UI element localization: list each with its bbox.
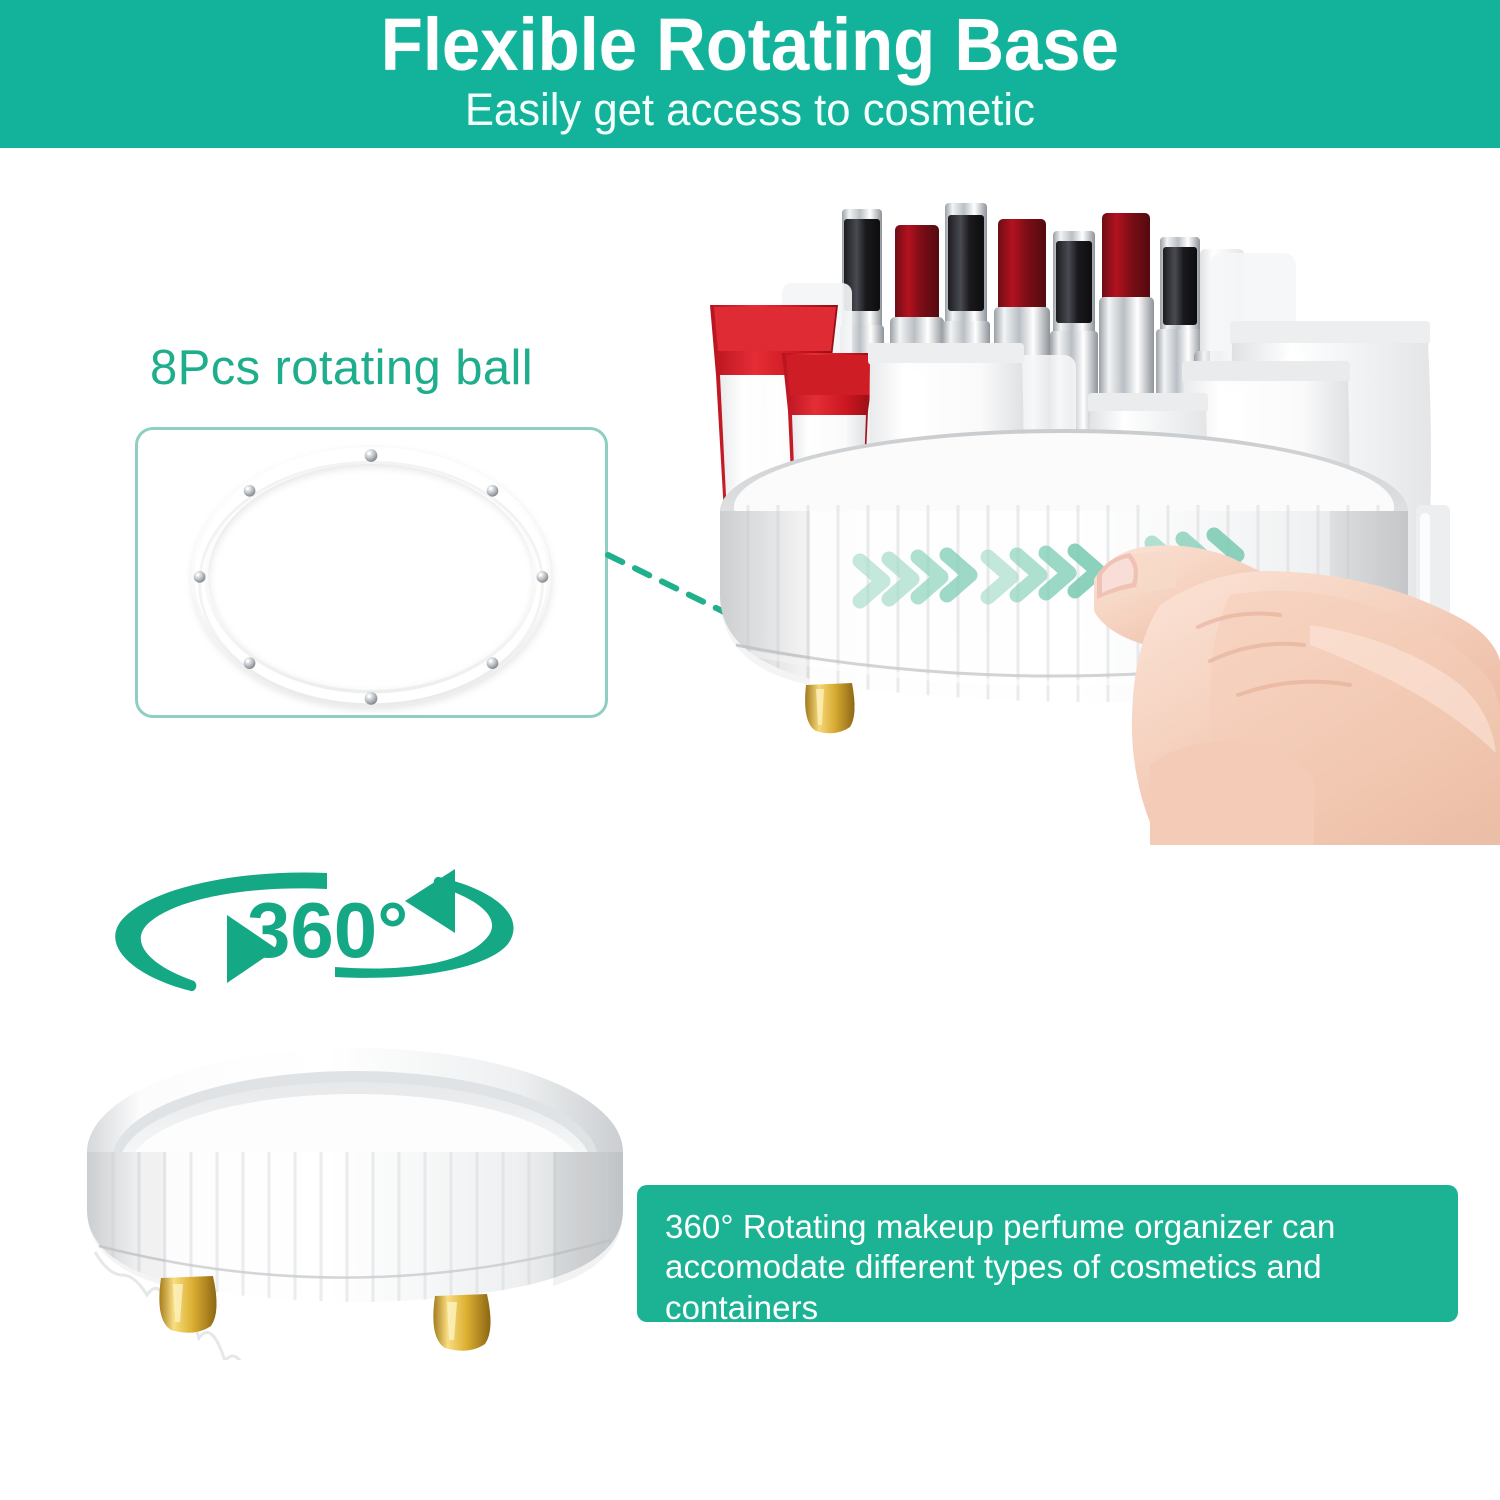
infographic-page: Flexible Rotating Base Easily get access… <box>0 0 1500 1500</box>
rotation-360-icon: 360° <box>95 855 535 1015</box>
rotating-ball-heading: 8Pcs rotating ball <box>150 340 533 396</box>
page-subtitle: Easily get access to cosmetic <box>465 86 1035 133</box>
organizer-gold-foot <box>805 683 854 733</box>
product-photo-filled-organizer <box>690 175 1500 845</box>
feature-caption-text: 360° Rotating makeup perfume organizer c… <box>665 1207 1432 1328</box>
page-title: Flexible Rotating Base <box>381 8 1119 82</box>
rotation-360-label: 360° <box>247 886 408 974</box>
header-banner: Flexible Rotating Base Easily get access… <box>0 0 1500 148</box>
rotating-ball-panel <box>135 427 608 718</box>
rotating-ball-ring-icon <box>138 430 605 715</box>
product-photo-empty-tray <box>55 1020 655 1360</box>
ball-markers <box>194 449 549 705</box>
feature-caption-box: 360° Rotating makeup perfume organizer c… <box>637 1185 1458 1322</box>
